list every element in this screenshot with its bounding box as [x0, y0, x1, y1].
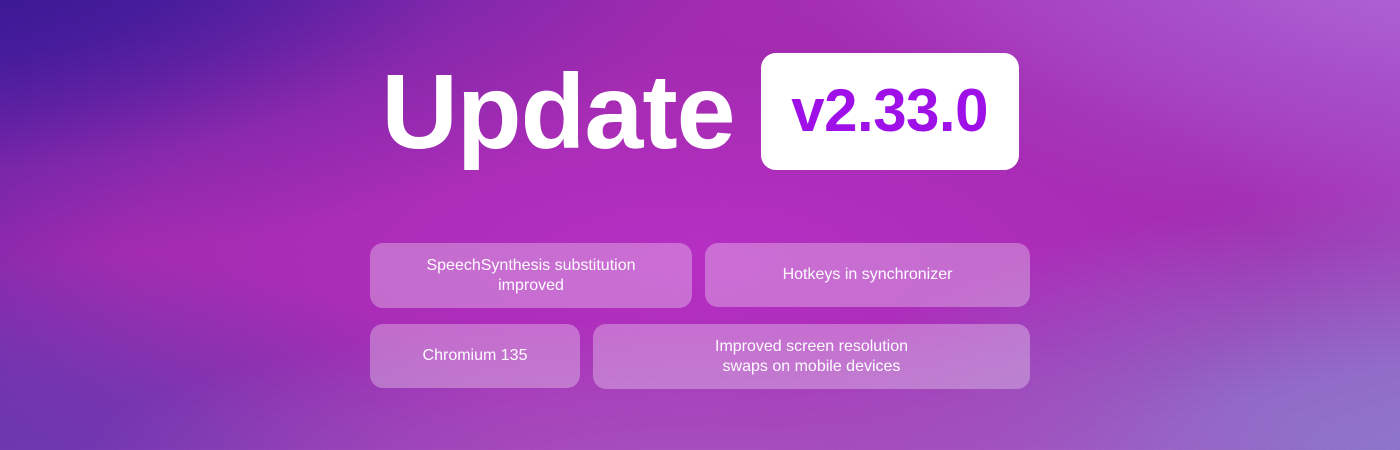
feature-card-hotkeys-synchronizer: Hotkeys in synchronizer	[705, 243, 1030, 307]
feature-card-screen-resolution: Improved screen resolution swaps on mobi…	[593, 324, 1030, 389]
feature-card-speech-synthesis: SpeechSynthesis substitution improved	[370, 243, 692, 308]
version-badge: v2.33.0	[761, 53, 1019, 170]
feature-card-label: SpeechSynthesis substitution improved	[426, 256, 635, 296]
page-title: Update	[381, 59, 734, 165]
version-badge-label: v2.33.0	[791, 81, 988, 141]
feature-card-label: Hotkeys in synchronizer	[783, 265, 953, 285]
title-row: Update v2.33.0	[0, 53, 1400, 170]
feature-card-list: SpeechSynthesis substitution improved Ho…	[0, 243, 1400, 389]
banner-content: Update v2.33.0 SpeechSynthesis substitut…	[0, 0, 1400, 450]
feature-card-label: Chromium 135	[423, 346, 528, 366]
update-banner: Update v2.33.0 SpeechSynthesis substitut…	[0, 0, 1400, 450]
feature-card-chromium-version: Chromium 135	[370, 324, 580, 388]
feature-card-row-1: SpeechSynthesis substitution improved Ho…	[370, 243, 1030, 308]
feature-card-label: Improved screen resolution swaps on mobi…	[715, 337, 908, 377]
feature-card-row-2: Chromium 135 Improved screen resolution …	[370, 324, 1030, 389]
